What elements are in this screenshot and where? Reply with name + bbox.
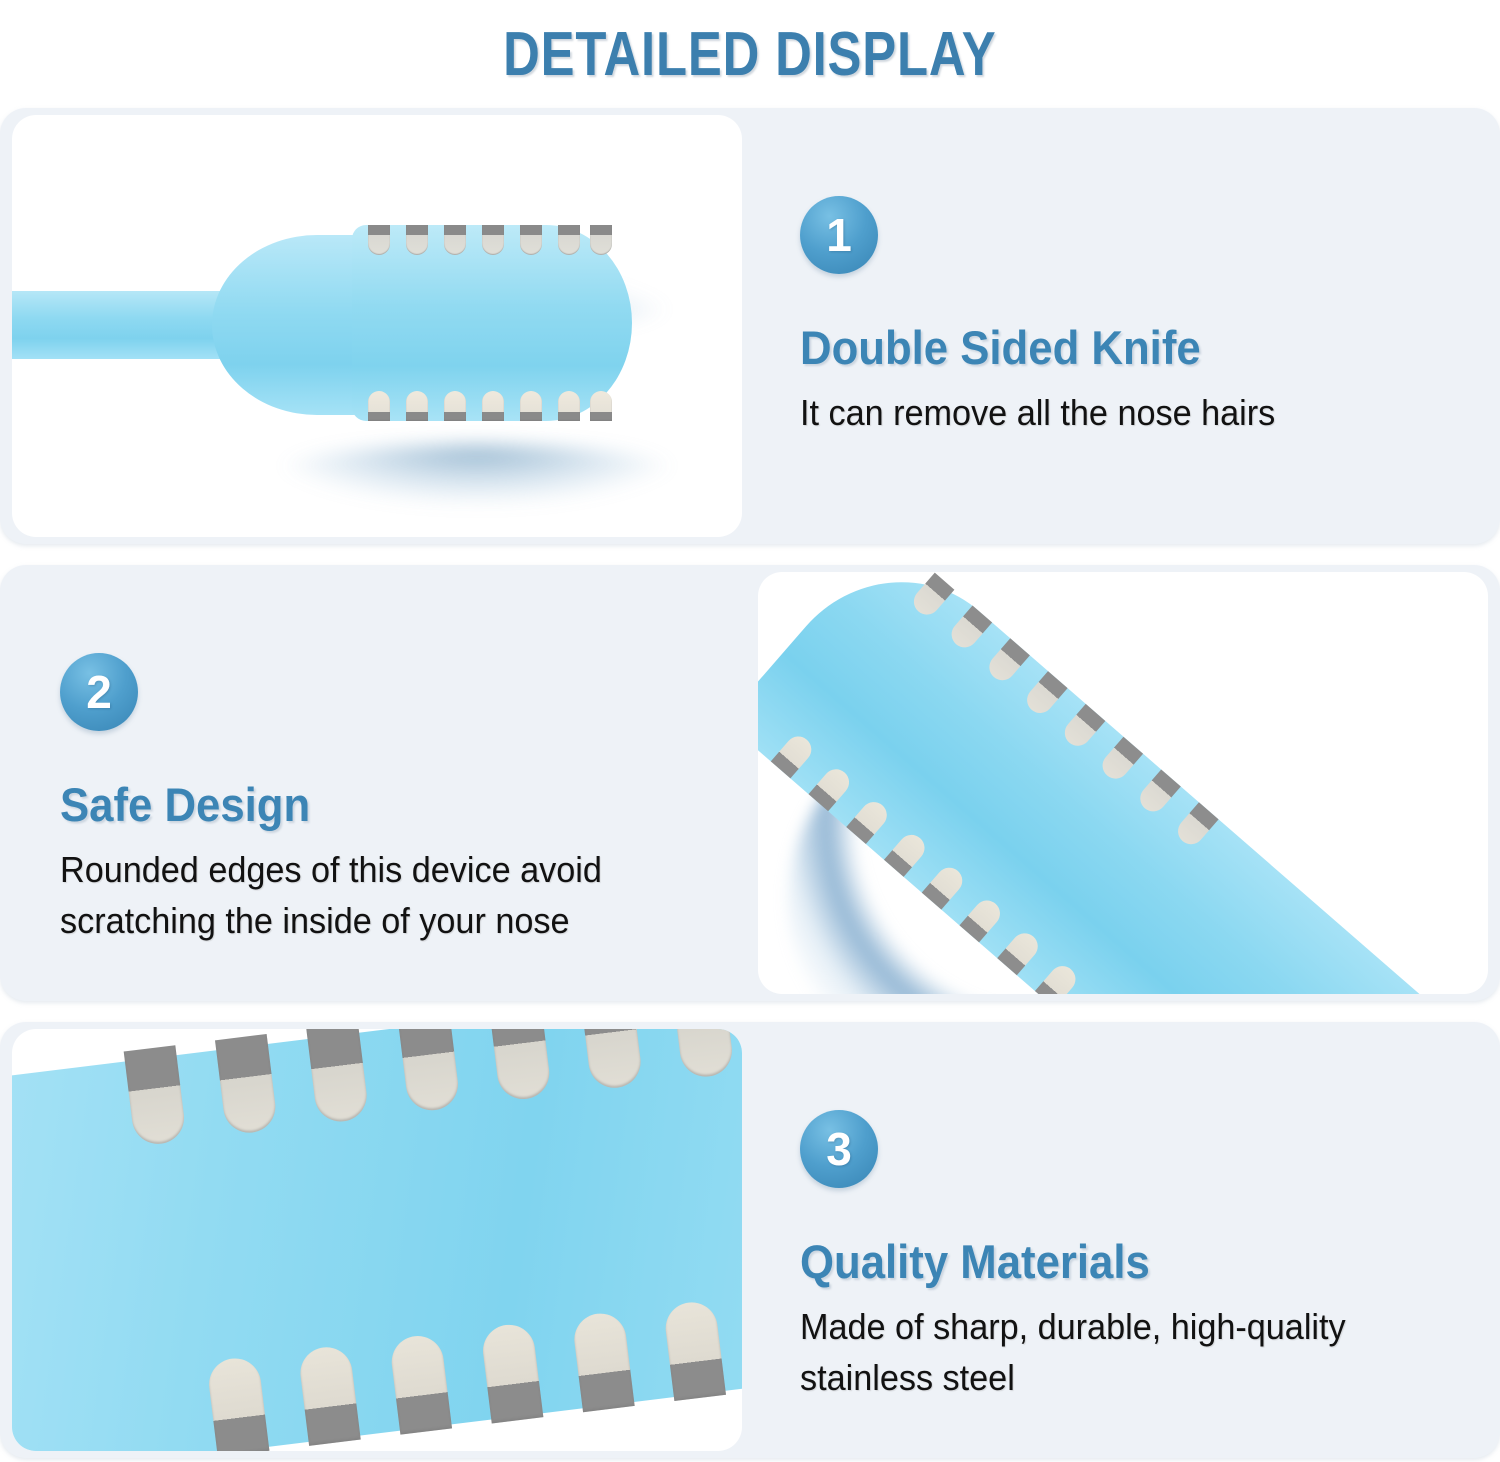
page-title: DETAILED DISPLAY	[503, 19, 996, 90]
header: DETAILED DISPLAY	[0, 0, 1500, 108]
trimmer-blade-macro-illustration	[12, 1029, 742, 1451]
feature-heading-1: Double Sided Knife	[800, 320, 1414, 375]
step-badge-2: 2	[60, 653, 138, 731]
feature-body-2: Rounded edges of this device avoid scrat…	[60, 844, 687, 946]
motion-blur-arc-bottom	[267, 445, 687, 505]
product-image-card-1	[12, 115, 742, 537]
product-image-card-2	[758, 572, 1488, 994]
trimmer-head-angled-illustration	[758, 572, 1488, 994]
feature-row-2: 2 Safe Design Rounded edges of this devi…	[0, 565, 1500, 1001]
device-head	[352, 225, 632, 421]
feature-body-3: Made of sharp, durable, high-quality sta…	[800, 1301, 1427, 1403]
step-badge-3: 3	[800, 1110, 878, 1188]
feature-row-3: 3 Quality Materials Made of sharp, durab…	[0, 1022, 1500, 1458]
feature-row-1: 1 Double Sided Knife It can remove all t…	[0, 108, 1500, 544]
feature-text-3: 3 Quality Materials Made of sharp, durab…	[800, 1110, 1460, 1403]
device-head-macro	[12, 1029, 742, 1451]
feature-heading-2: Safe Design	[60, 777, 674, 832]
product-image-card-3	[12, 1029, 742, 1451]
infographic-page: DETAILED DISPLAY	[0, 0, 1500, 1462]
step-badge-1: 1	[800, 196, 878, 274]
feature-text-2: 2 Safe Design Rounded edges of this devi…	[60, 653, 720, 946]
feature-text-1: 1 Double Sided Knife It can remove all t…	[800, 196, 1460, 438]
feature-body-1: It can remove all the nose hairs	[800, 387, 1427, 438]
feature-heading-3: Quality Materials	[800, 1234, 1414, 1289]
trimmer-head-side-view-illustration	[12, 115, 742, 537]
